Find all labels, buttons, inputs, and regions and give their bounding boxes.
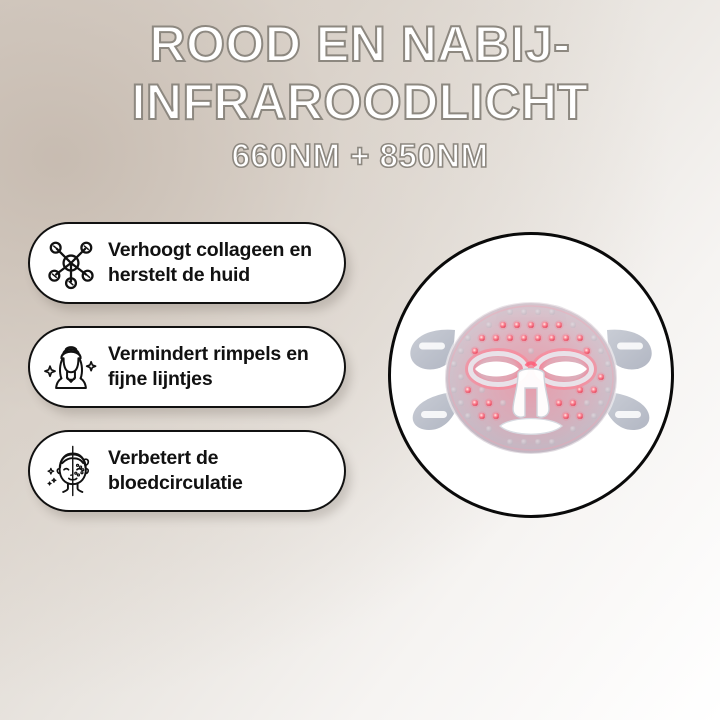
led-face-mask-image <box>397 270 665 480</box>
feature-label: Verhoogt collageen en herstelt de huid <box>108 238 328 288</box>
feature-card-wrinkles[interactable]: Vermindert rimpels en fijne lijntjes <box>28 326 346 408</box>
product-image-frame <box>388 232 674 518</box>
title-line-1: ROOD EN NABIJ- <box>0 14 720 74</box>
feature-card-circulation[interactable]: Verbetert de bloedcirculatie <box>28 430 346 512</box>
feature-card-collagen[interactable]: Verhoogt collageen en herstelt de huid <box>28 222 346 304</box>
headline-block: ROOD EN NABIJ- INFRAROODLICHT 660NM + 85… <box>0 14 720 176</box>
split-face-skin-icon <box>42 442 100 500</box>
title-line-2: INFRAROODLICHT <box>0 72 720 132</box>
feature-label: Verbetert de bloedcirculatie <box>108 446 328 496</box>
molecule-icon <box>42 234 100 292</box>
wavelength-subtitle: 660NM + 850NM <box>0 136 720 176</box>
feature-label: Vermindert rimpels en fijne lijntjes <box>108 342 328 392</box>
feature-list: Verhoogt collageen en herstelt de huid <box>28 222 346 512</box>
product-infographic-poster: ROOD EN NABIJ- INFRAROODLICHT 660NM + 85… <box>0 0 720 720</box>
woman-hair-towel-sparkles-icon <box>42 338 100 396</box>
